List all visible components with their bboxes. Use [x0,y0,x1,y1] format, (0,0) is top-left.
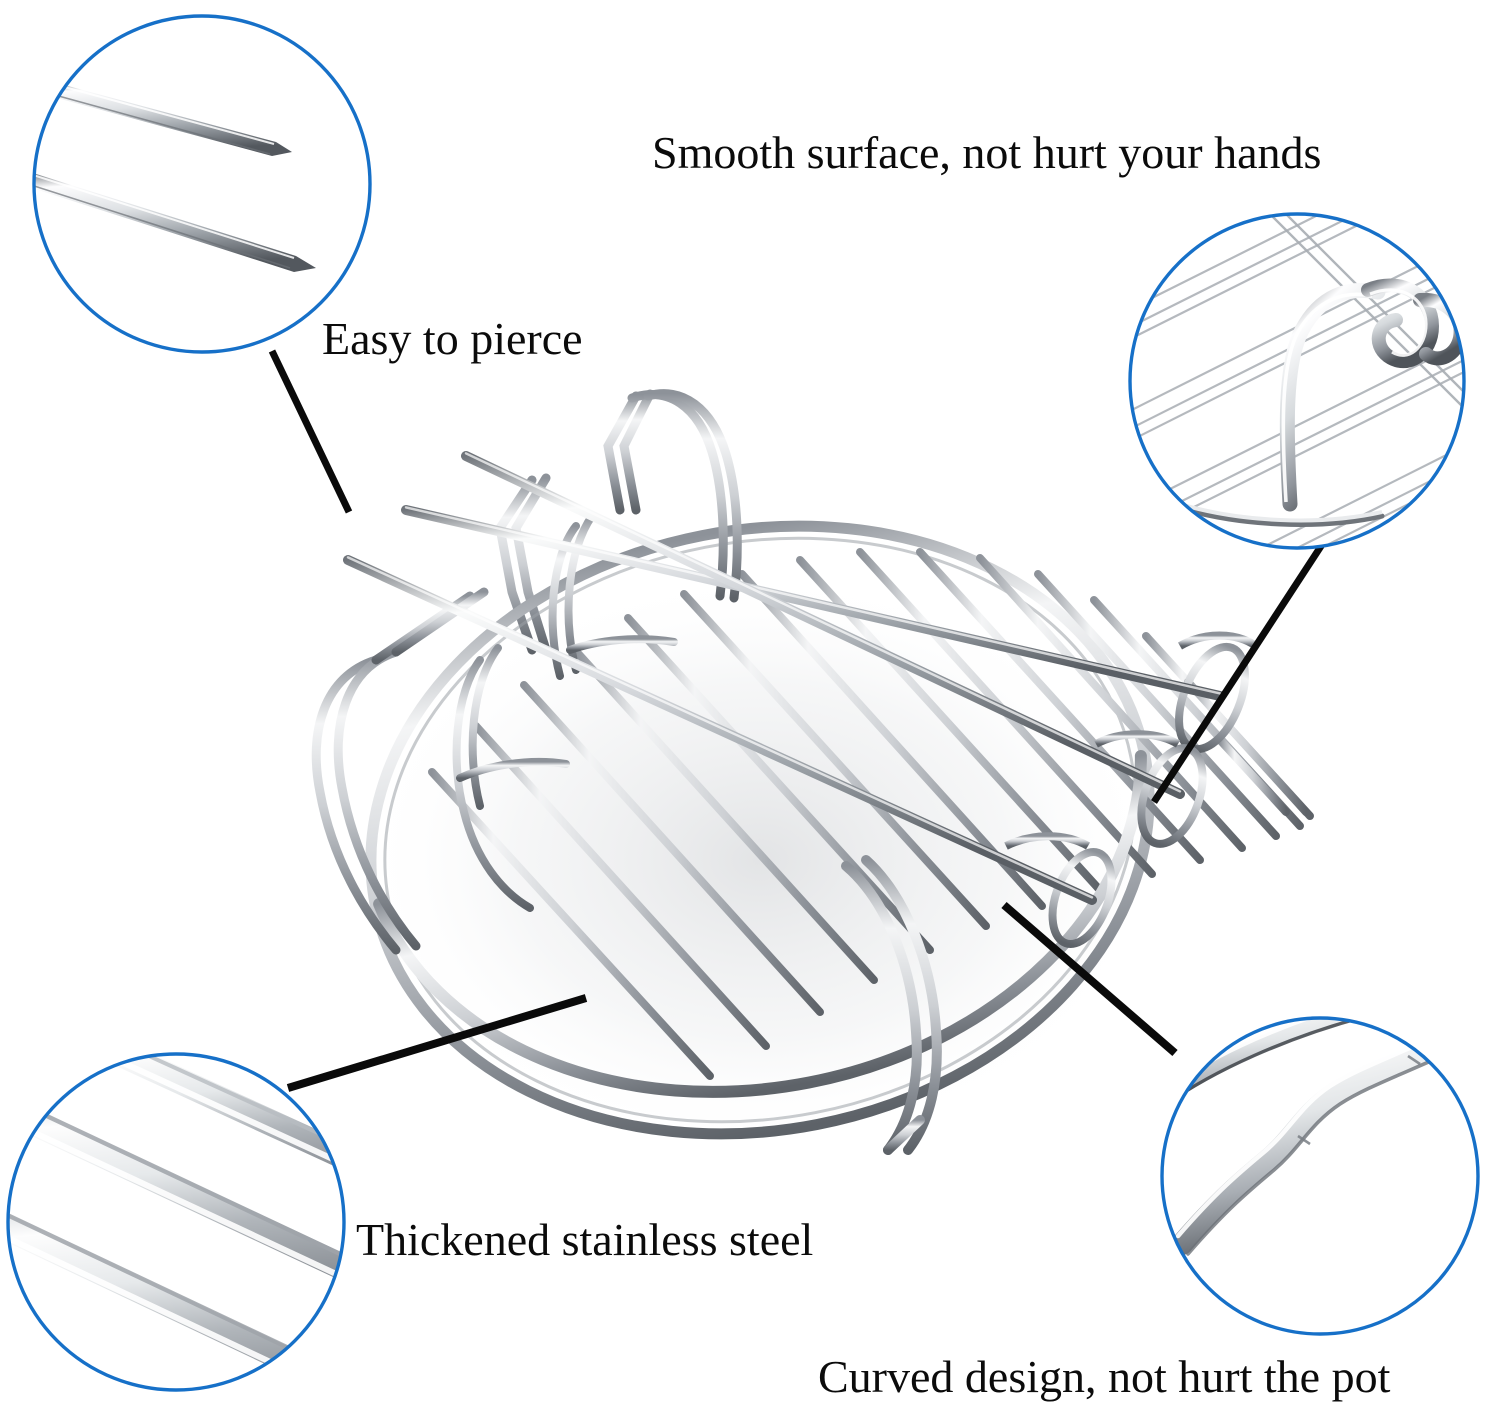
label-thickened-stainless-steel: Thickened stainless steel [356,1213,813,1266]
label-curved-design: Curved design, not hurt the pot [818,1350,1390,1403]
leader-smooth-surface [1154,540,1325,802]
leader-curved-design [1004,905,1175,1053]
callout-smooth-handle-loop [1120,204,1480,564]
label-smooth-surface: Smooth surface, not hurt your hands [652,126,1321,179]
callout-thick-wire-rods [0,1046,360,1408]
leader-easy-to-pierce [272,351,349,512]
infographic-canvas: Smooth surface, not hurt your hands Easy… [0,0,1500,1408]
label-easy-to-pierce: Easy to pierce [322,312,583,365]
callout-curved-foot [1158,1014,1482,1338]
